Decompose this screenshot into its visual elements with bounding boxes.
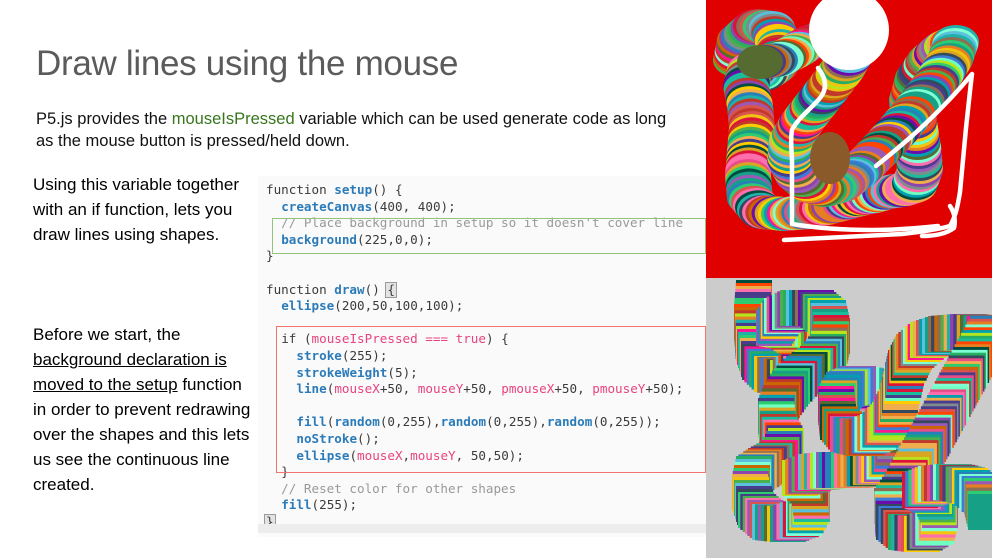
- p5-sketch-red-ellipse-trail: [706, 0, 992, 278]
- code-line: if (mouseIsPressed === true) {: [266, 331, 683, 348]
- intro-text-before: P5.js provides the: [36, 110, 172, 128]
- trail-ellipse: [737, 45, 783, 79]
- code-line: [266, 398, 683, 415]
- code-line: [266, 315, 683, 332]
- code-line: createCanvas(400, 400);: [266, 199, 683, 216]
- code-editor-panel[interactable]: function setup() { createCanvas(400, 400…: [258, 176, 706, 534]
- code-lines: function setup() { createCanvas(400, 400…: [266, 182, 683, 530]
- code-line: }: [266, 464, 683, 481]
- trail-rect: [968, 494, 992, 530]
- page-title: Draw lines using the mouse: [36, 44, 458, 84]
- code-line: }: [266, 248, 683, 265]
- code-line: strokeWeight(5);: [266, 365, 683, 382]
- left-paragraph-1: Using this variable together with an if …: [33, 172, 257, 247]
- p5-sketch-gray-rect-trail: [706, 278, 992, 558]
- code-line: function setup() {: [266, 182, 683, 199]
- intro-paragraph: P5.js provides the mouseIsPressed variab…: [36, 108, 676, 152]
- left-paragraph-2: Before we start, the background declarat…: [33, 322, 257, 497]
- code-line: // Place background in setup so it doesn…: [266, 215, 683, 232]
- gray-canvas-svg: [706, 278, 992, 558]
- code-line: function draw() {: [266, 282, 683, 299]
- code-line: noStroke();: [266, 431, 683, 448]
- code-line: stroke(255);: [266, 348, 683, 365]
- code-line: background(225,0,0);: [266, 232, 683, 249]
- code-horizontal-scrollbar[interactable]: [258, 524, 706, 533]
- intro-keyword-mouseispressed: mouseIsPressed: [172, 110, 295, 128]
- slide-body: Draw lines using the mouse P5.js provide…: [0, 0, 706, 558]
- red-canvas-svg: [706, 0, 992, 278]
- code-line: ellipse(mouseX,mouseY, 50,50);: [266, 448, 683, 465]
- code-line: fill(255);: [266, 497, 683, 514]
- brown-ellipse-center: [810, 132, 850, 184]
- left-paragraph-2-part1: Before we start, the: [33, 325, 180, 344]
- code-line: line(mouseX+50, mouseY+50, pmouseX+50, p…: [266, 381, 683, 398]
- code-line: [266, 265, 683, 282]
- code-panel-bottom-edge: [258, 533, 706, 537]
- code-line: ellipse(200,50,100,100);: [266, 298, 683, 315]
- code-line: // Reset color for other shapes: [266, 481, 683, 498]
- code-line: fill(random(0,255),random(0,255),random(…: [266, 414, 683, 431]
